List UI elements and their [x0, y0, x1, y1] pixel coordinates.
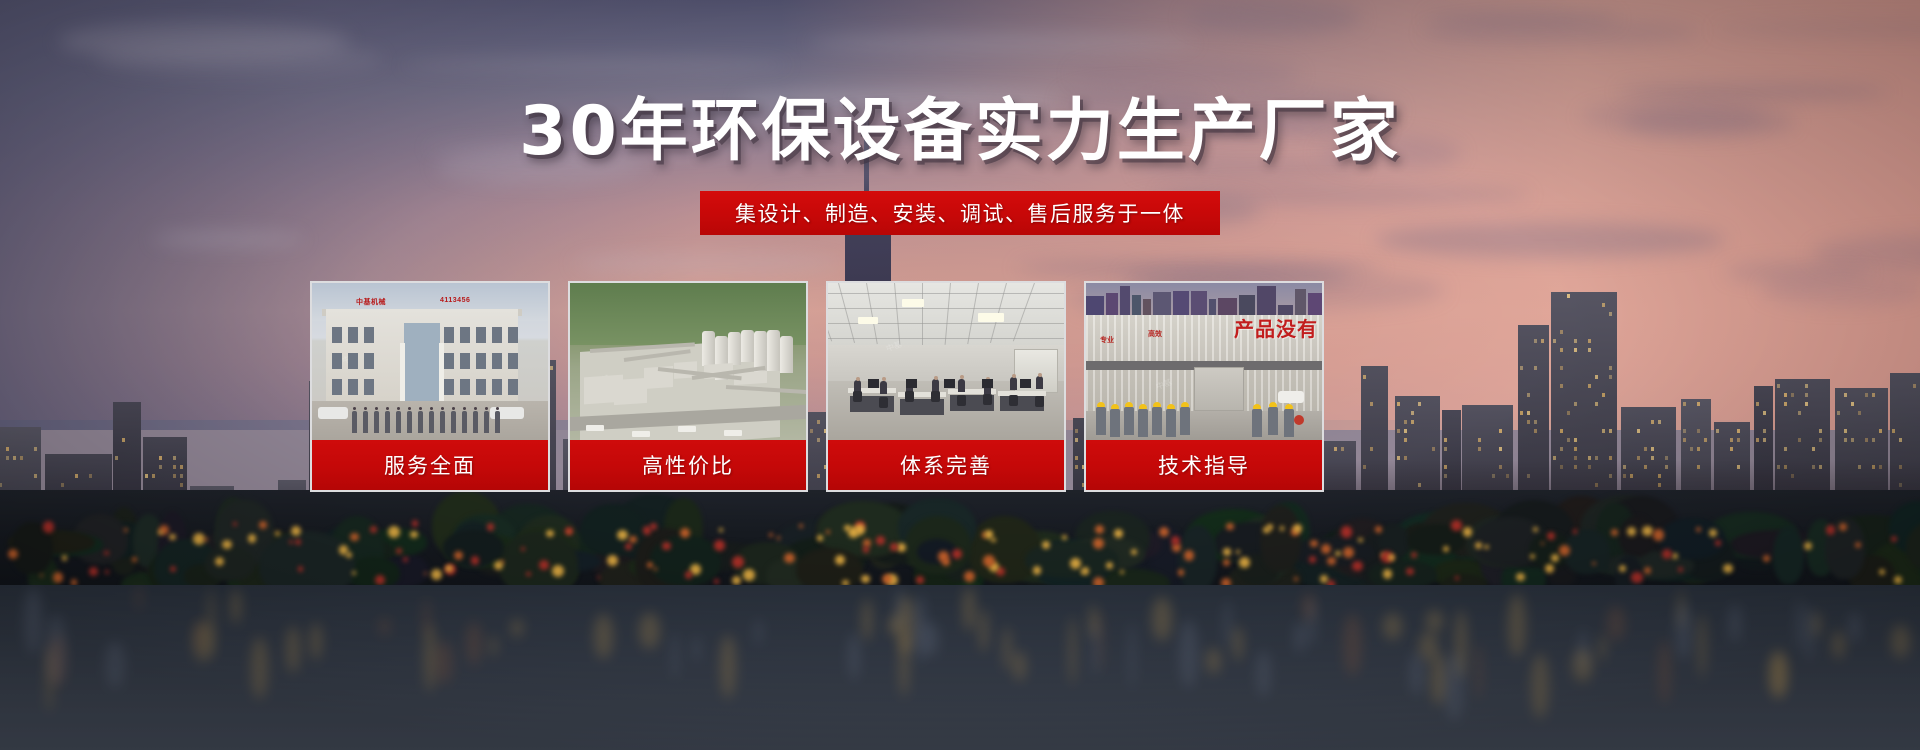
photo4-worker	[1096, 407, 1106, 435]
photo3-chair	[983, 394, 992, 405]
photo4-slogan-mid: 高效	[1148, 329, 1162, 339]
subtitle-text: 集设计、制造、安装、调试、售后服务于一体	[735, 198, 1185, 228]
photo1-staff-member	[440, 411, 445, 433]
photo4-hard-hat	[1125, 402, 1133, 407]
photo4-hard-hat	[1181, 402, 1189, 407]
card-label-system: 体系完善	[828, 440, 1064, 490]
photo4-worker	[1110, 409, 1120, 437]
photo1-window	[460, 353, 470, 369]
feature-card-list: 中基机械 4113456 中基 服务全面	[310, 281, 1562, 492]
photo1-staff-member	[484, 411, 489, 433]
photo3-monitor	[868, 379, 879, 388]
photo3-employee	[958, 379, 965, 392]
photo1-staff-member	[429, 411, 434, 433]
photo1-column	[400, 343, 405, 405]
photo1-window	[444, 327, 454, 343]
photo4-worker	[1252, 409, 1262, 437]
banner-content: 30年环保设备实力生产厂家 集设计、制造、安装、调试、售后服务于一体 中基机械 …	[0, 0, 1920, 750]
photo1-window	[332, 327, 342, 343]
photo4-worker	[1284, 409, 1294, 437]
photo4-distant-building	[1173, 291, 1189, 315]
photo1-window	[348, 353, 358, 369]
photo4-distant-building	[1132, 295, 1141, 316]
photo3-chair	[931, 391, 940, 402]
photo4-hard-hat	[1269, 402, 1277, 407]
photo1-window	[476, 379, 486, 395]
card-photo-office-interior: 中基	[828, 283, 1064, 444]
photo1-staff-member	[451, 411, 456, 433]
photo1-window	[460, 327, 470, 343]
photo4-distant-building	[1257, 286, 1276, 315]
photo2-scene: 中基	[570, 283, 806, 444]
photo3-ceiling-grid	[828, 308, 1064, 309]
photo1-window	[476, 327, 486, 343]
photo2-truck	[724, 430, 742, 436]
photo1-window	[444, 379, 454, 395]
card-label-value: 高性价比	[570, 440, 806, 490]
photo4-hard-hat	[1153, 402, 1161, 407]
photo1-window	[364, 327, 374, 343]
photo2-silo	[780, 336, 793, 373]
photo4-distant-building	[1120, 286, 1130, 315]
photo4-roller-door	[1194, 367, 1244, 411]
card-photo-factory-workers: 产品没有 专业 高效 中基	[1086, 283, 1322, 444]
card-photo-office-building: 中基机械 4113456 中基	[312, 283, 548, 444]
photo4-distant-building	[1191, 291, 1207, 315]
photo4-distant-building	[1106, 293, 1118, 315]
photo3-light-panel	[858, 317, 878, 324]
photo3-chair	[879, 397, 888, 408]
photo1-window	[508, 379, 518, 395]
photo1-window	[364, 379, 374, 395]
card-photo-industrial-plant: 中基	[570, 283, 806, 444]
photo4-hard-hat	[1097, 402, 1105, 407]
photo1-phone-number: 4113456	[440, 297, 470, 304]
photo1-window	[332, 353, 342, 369]
feature-card-system[interactable]: 中基 体系完善	[826, 281, 1066, 492]
photo4-slogan-left: 专业	[1100, 335, 1114, 345]
photo4-hard-hat	[1253, 404, 1261, 409]
photo4-worker	[1152, 407, 1162, 435]
card-label-service: 服务全面	[312, 440, 548, 490]
photo3-monitor	[906, 379, 917, 388]
photo3-chair	[905, 391, 914, 402]
photo1-staff-member	[418, 411, 423, 433]
photo2-truck	[586, 425, 604, 431]
photo3-ceiling-grid	[828, 293, 1064, 294]
photo1-staff-member	[352, 411, 357, 433]
photo1-window	[508, 327, 518, 343]
photo4-worker	[1124, 407, 1134, 435]
photo1-company-sign: 中基机械	[356, 297, 386, 307]
hero-banner: 30年环保设备实力生产厂家 集设计、制造、安装、调试、售后服务于一体 中基机械 …	[0, 0, 1920, 750]
card-label-guidance: 技术指导	[1086, 440, 1322, 490]
photo4-distant-building	[1143, 299, 1151, 315]
feature-card-service[interactable]: 中基机械 4113456 中基 服务全面	[310, 281, 550, 492]
photo3-chair	[1009, 395, 1018, 406]
photo3-monitor	[982, 379, 993, 388]
photo2-silo	[702, 331, 715, 366]
photo4-worker	[1268, 407, 1278, 435]
photo1-window	[364, 353, 374, 369]
feature-card-guidance[interactable]: 产品没有 专业 高效 中基 技术指导	[1084, 281, 1324, 492]
photo2-truck	[632, 431, 650, 437]
photo1-window	[508, 353, 518, 369]
photo4-red-helmet-item	[1294, 415, 1304, 425]
photo1-window	[460, 379, 470, 395]
photo3-chair	[853, 391, 862, 402]
photo1-window	[348, 327, 358, 343]
photo1-window	[492, 379, 502, 395]
photo3-chair	[1035, 396, 1044, 407]
photo3-light-panel	[978, 313, 1004, 322]
feature-card-value[interactable]: 中基 高性价比	[568, 281, 808, 492]
photo3-employee	[880, 381, 887, 394]
photo3-light-panel	[902, 299, 924, 307]
photo4-distant-building	[1153, 292, 1171, 315]
photo1-window	[332, 379, 342, 395]
photo2-silo	[728, 332, 741, 365]
photo3-scene: 中基	[828, 283, 1064, 444]
photo3-chair	[957, 395, 966, 406]
photo4-hard-hat	[1111, 404, 1119, 409]
photo3-ceiling-grid	[828, 338, 1064, 339]
photo1-scene: 中基机械 4113456 中基	[312, 283, 548, 444]
banner-headline: 30年环保设备实力生产厂家	[0, 98, 1920, 166]
photo3-monitor	[1020, 379, 1031, 388]
photo1-staff-member	[396, 411, 401, 433]
photo4-distant-building	[1209, 299, 1216, 315]
photo1-window	[444, 353, 454, 369]
photo4-scene: 产品没有 专业 高效 中基	[1086, 283, 1322, 444]
photo4-worker	[1138, 409, 1148, 437]
photo4-distant-building	[1239, 295, 1254, 315]
photo4-white-car	[1278, 391, 1304, 403]
photo1-staff-member	[462, 411, 467, 433]
photo4-background-skyline	[1086, 283, 1322, 315]
photo1-window	[348, 379, 358, 395]
photo2-truck	[678, 426, 696, 432]
photo4-distant-building	[1086, 296, 1104, 315]
photo2-plant-building	[614, 377, 647, 405]
photo4-worker	[1166, 409, 1176, 437]
photo2-silo	[741, 330, 754, 363]
photo3-employee	[1036, 376, 1043, 389]
photo1-entrance	[404, 323, 440, 405]
photo1-staff-member	[363, 411, 368, 433]
photo4-hard-hat	[1139, 404, 1147, 409]
photo1-staff-member	[385, 411, 390, 433]
photo4-slogan-large: 产品没有	[1234, 313, 1318, 342]
photo4-hard-hat	[1285, 404, 1293, 409]
photo1-staff-member	[374, 411, 379, 433]
photo1-car	[318, 407, 348, 419]
photo1-window	[492, 327, 502, 343]
photo4-distant-building	[1308, 293, 1322, 315]
photo1-staff-member	[473, 411, 478, 433]
photo2-silo	[767, 330, 780, 371]
photo4-worker	[1180, 407, 1190, 435]
photo1-window	[492, 353, 502, 369]
photo3-monitor	[944, 379, 955, 388]
photo4-distant-building	[1295, 289, 1306, 315]
subtitle-bar: 集设计、制造、安装、调试、售后服务于一体	[700, 191, 1220, 235]
photo1-staff-member	[495, 411, 500, 433]
photo4-hard-hat	[1167, 404, 1175, 409]
photo1-staff-member	[407, 411, 412, 433]
photo1-window	[476, 353, 486, 369]
photo3-employee	[1010, 377, 1017, 390]
